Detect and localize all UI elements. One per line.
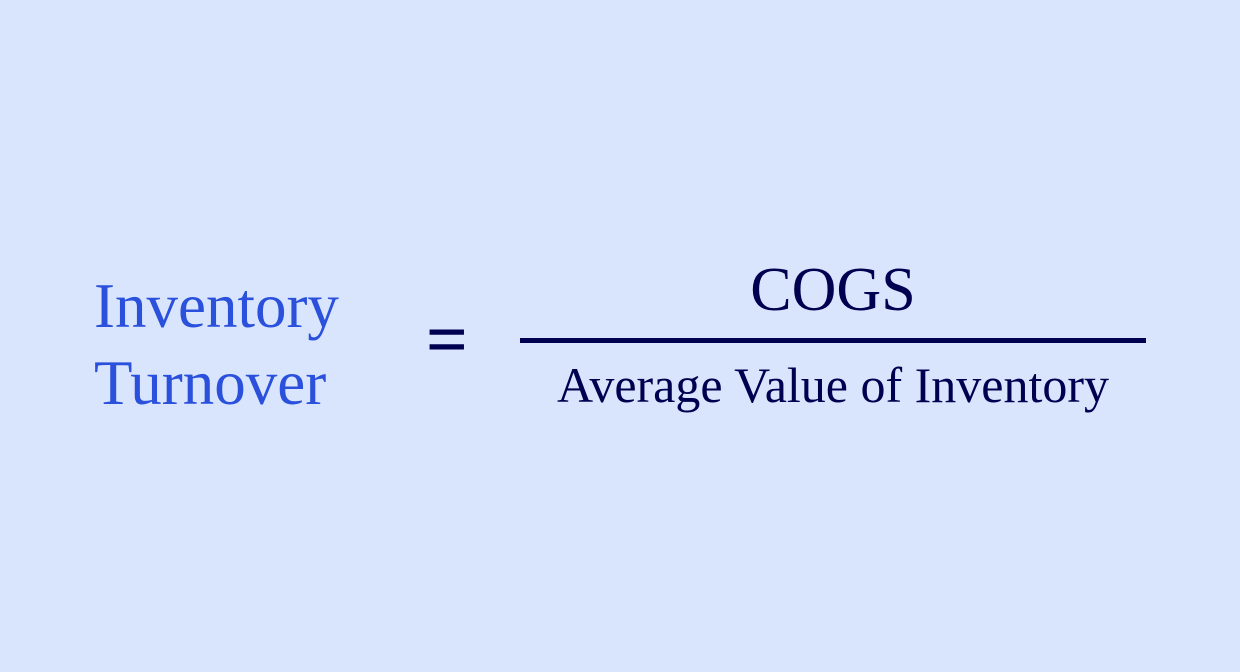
fraction-denominator: Average Value of Inventory [520,343,1146,416]
equals-sign: = [416,303,478,377]
fraction-numerator: COGS [520,252,1146,338]
formula-left-term: Inventory Turnover [94,268,339,422]
left-term-line-2: Turnover [94,345,339,422]
fraction: COGS Average Value of Inventory [520,252,1146,416]
left-term-line-1: Inventory [94,268,339,345]
formula-canvas: Inventory Turnover = COGS Average Value … [0,0,1240,672]
